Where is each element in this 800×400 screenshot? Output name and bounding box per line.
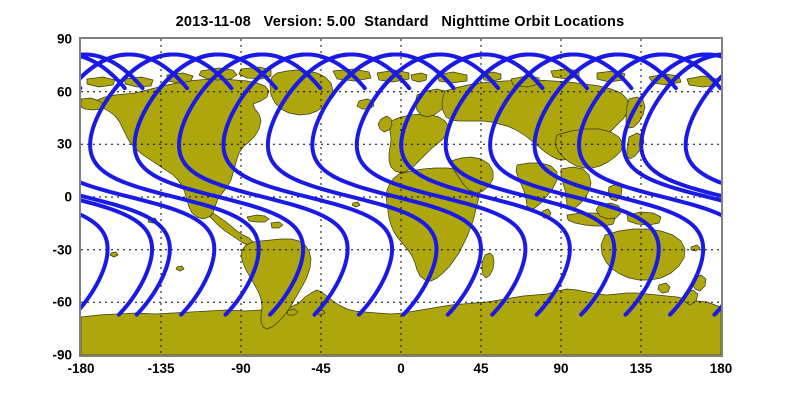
x-tick-label: 90 — [553, 361, 568, 376]
y-tick-label: -60 — [28, 295, 72, 310]
x-tick-label: -45 — [311, 361, 331, 376]
y-tick-label: 90 — [28, 32, 72, 47]
y-tick-label: 0 — [28, 190, 72, 205]
y-tick-label: -30 — [28, 242, 72, 257]
x-tick-label: -90 — [231, 361, 251, 376]
map-plot-area — [79, 37, 723, 357]
x-tick-label: -135 — [147, 361, 174, 376]
x-tick-label: 45 — [473, 361, 488, 376]
land-svalbard — [411, 73, 427, 82]
y-tick-label: -90 — [28, 348, 72, 363]
x-tick-label: 0 — [397, 361, 405, 376]
page-title: 2013-11-08 Version: 5.00 Standard Nightt… — [0, 14, 800, 30]
x-tick-label: -180 — [67, 361, 94, 376]
world-map-svg — [81, 39, 721, 355]
y-tick-label: 30 — [28, 137, 72, 152]
orbit-map-figure: 2013-11-08 Version: 5.00 Standard Nightt… — [0, 0, 800, 400]
y-tick-label: 60 — [28, 84, 72, 99]
x-tick-label: 135 — [630, 361, 653, 376]
x-tick-label: 180 — [710, 361, 733, 376]
